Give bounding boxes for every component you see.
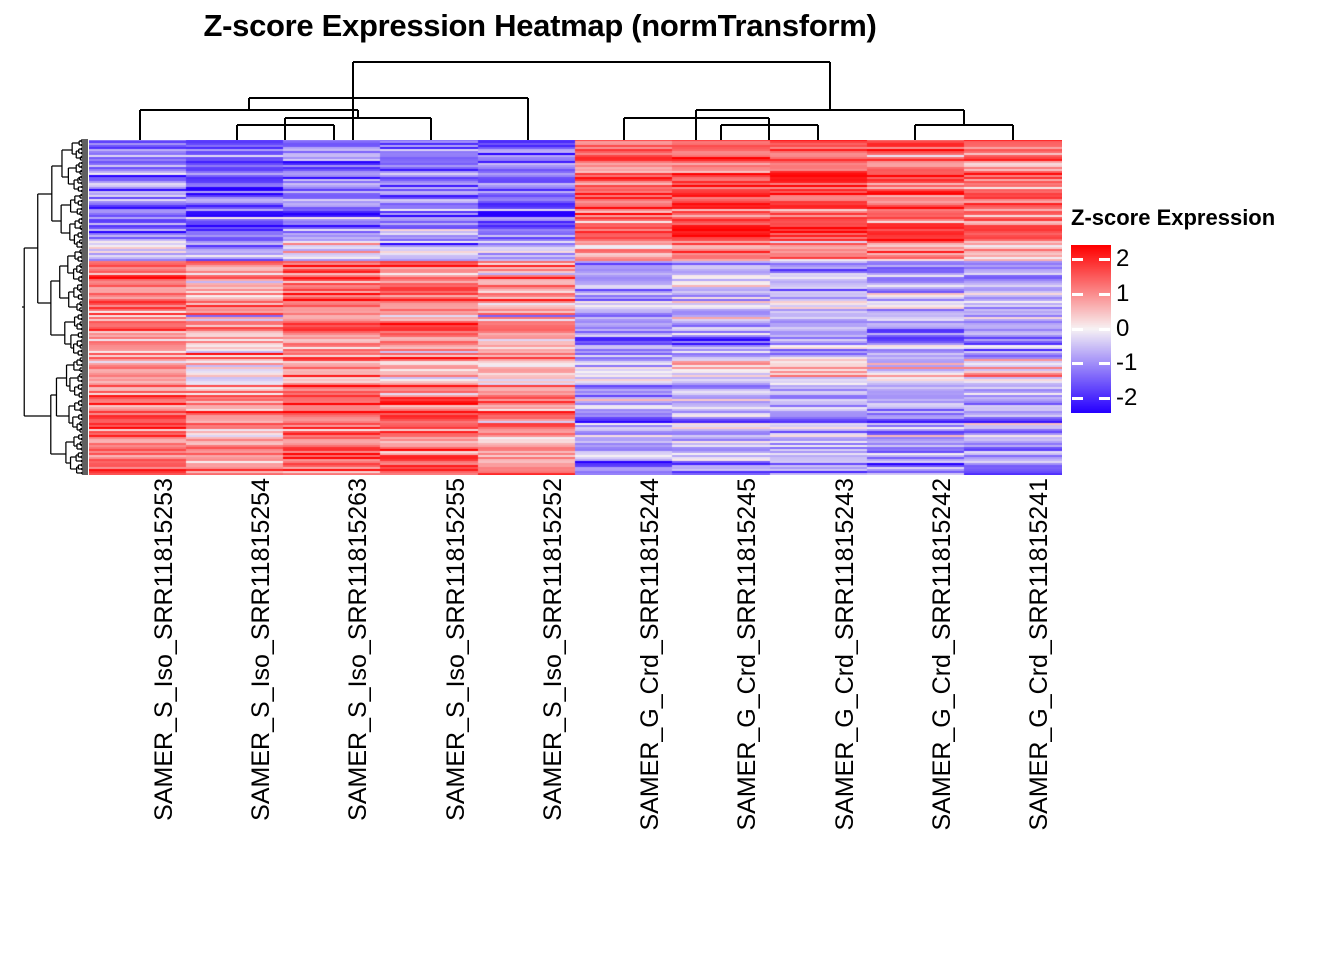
column-axis-label: SAMER_S_Iso_SRR11815253 [151, 478, 177, 948]
colorbar-wrap[interactable] [1071, 245, 1111, 413]
page-title: Z-score Expression Heatmap (normTransfor… [0, 8, 1080, 44]
colorbar-tick-label: 2 [1116, 247, 1129, 271]
column-axis-label: SAMER_S_Iso_SRR11815254 [248, 478, 274, 948]
heatmap-body[interactable] [89, 140, 1062, 475]
row-dendrogram [18, 138, 90, 476]
column-axis-label: SAMER_G_Crd_SRR11815243 [832, 478, 858, 948]
legend-title: Z-score Expression [1071, 205, 1275, 231]
colorbar-tick-label: 0 [1116, 317, 1129, 341]
colorbar-gradient[interactable] [1071, 245, 1111, 413]
column-axis-label: SAMER_G_Crd_SRR11815244 [637, 478, 663, 948]
colorbar-tick-label: -1 [1116, 351, 1137, 375]
column-axis-label: SAMER_S_Iso_SRR11815255 [443, 478, 469, 948]
column-axis-label: SAMER_S_Iso_SRR11815263 [345, 478, 371, 948]
column-axis-label: SAMER_G_Crd_SRR11815241 [1026, 478, 1052, 948]
column-axis-label: SAMER_G_Crd_SRR11815245 [734, 478, 760, 948]
legend: Z-score Expression 210-1-2 [1071, 205, 1336, 430]
column-axis-label: SAMER_G_Crd_SRR11815242 [929, 478, 955, 948]
colorbar-tick-label: -2 [1116, 386, 1137, 410]
heatmap-cells[interactable] [89, 140, 1062, 475]
column-axis-label: SAMER_S_Iso_SRR11815252 [540, 478, 566, 948]
column-axis-labels: SAMER_S_Iso_SRR11815253SAMER_S_Iso_SRR11… [89, 478, 1062, 948]
column-dendrogram [0, 55, 1080, 141]
colorbar-tick-label: 1 [1116, 282, 1129, 306]
